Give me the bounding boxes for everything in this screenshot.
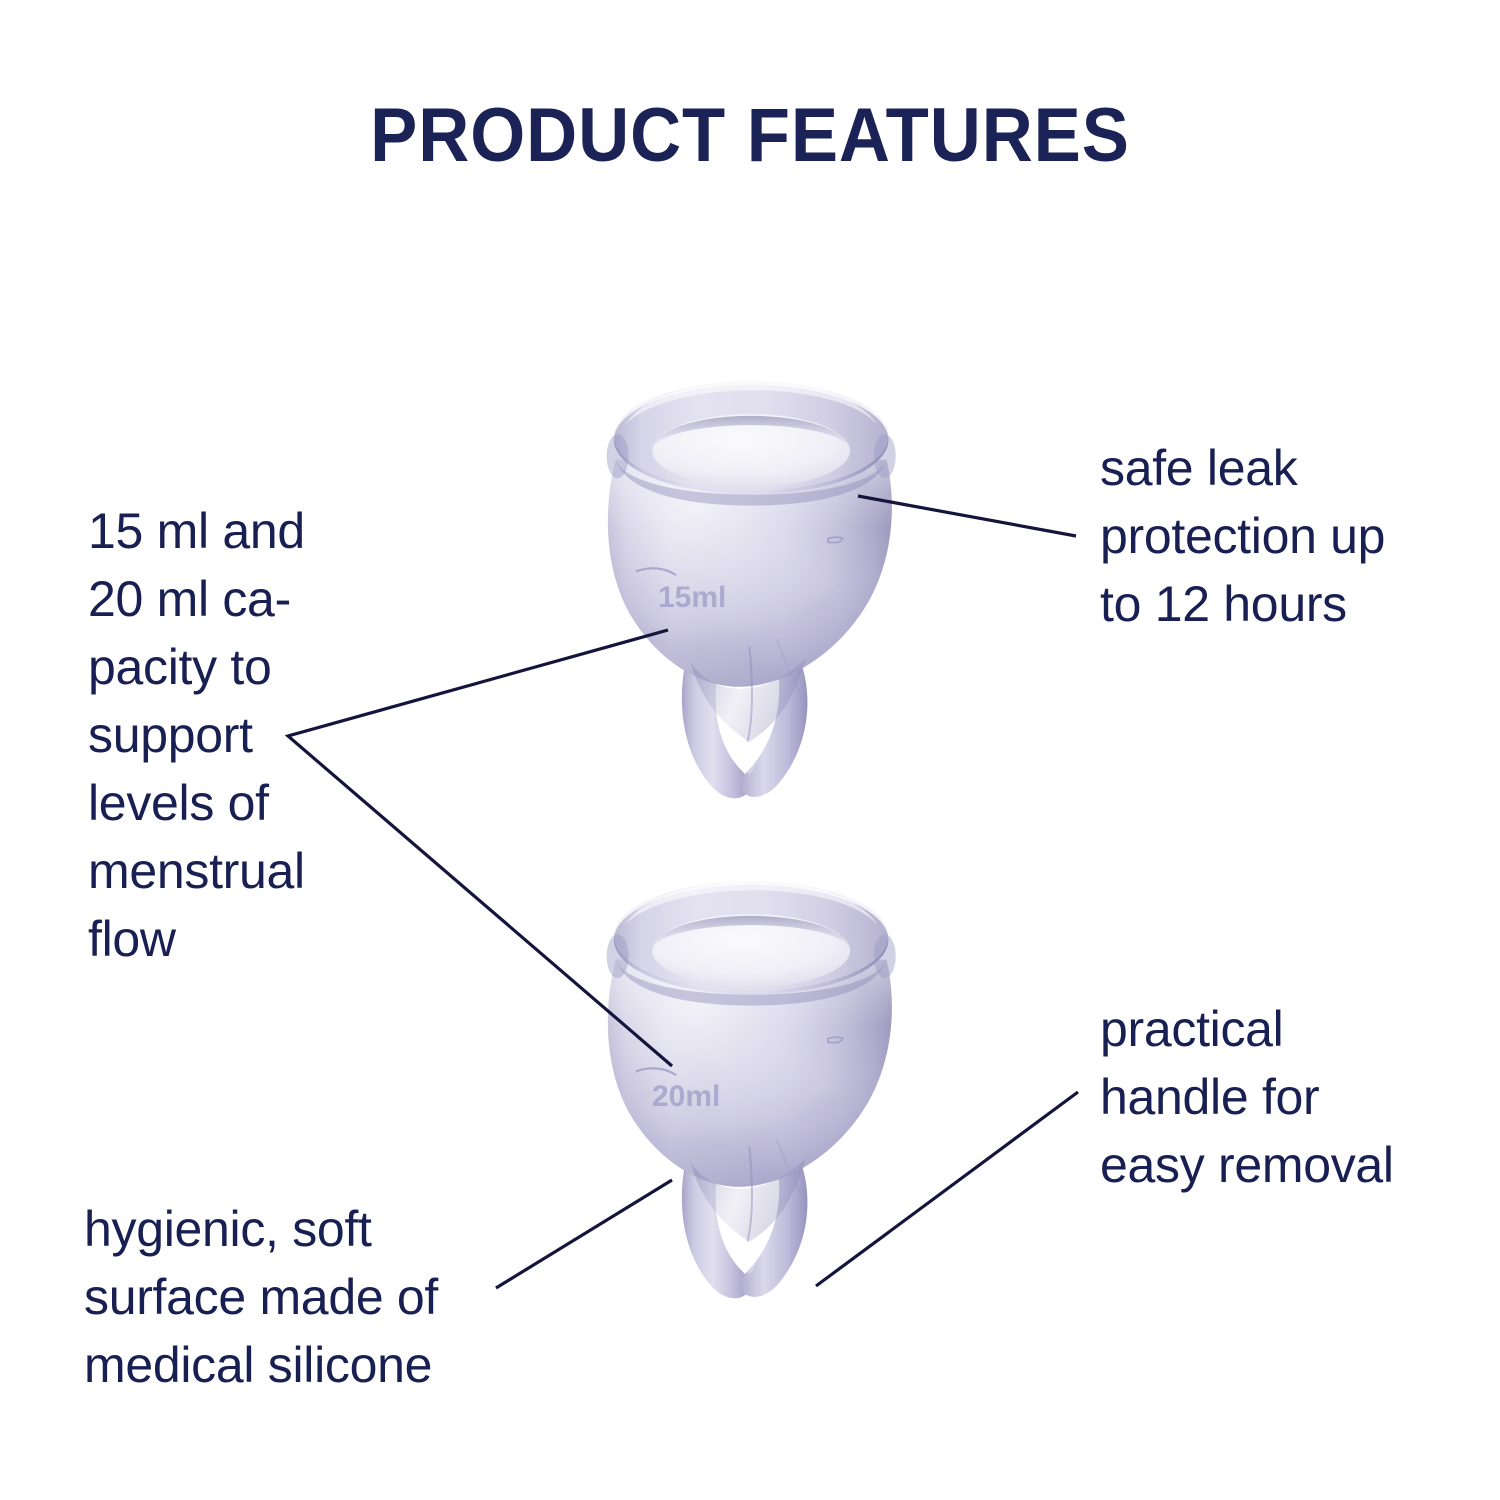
callout-capacity-text: 15 ml and 20 ml ca- pacity to support le… (88, 497, 378, 973)
callout-material-text: hygienic, soft surface made of medical s… (84, 1195, 514, 1399)
product-cup-20ml: 20ml (607, 881, 896, 1298)
callout-leak-protection-text: safe leak protection up to 12 hours (1100, 434, 1430, 638)
product-cup-15ml: 15ml (607, 381, 896, 798)
infographic-canvas: PRODUCT FEATURES (0, 0, 1500, 1500)
callout-handle-text: practical handle for easy removal (1100, 995, 1450, 1199)
leader-line-material (496, 1180, 672, 1288)
cup-15ml-capacity-emboss: 15ml (658, 581, 726, 614)
cup-20ml-capacity-emboss: 20ml (652, 1080, 720, 1113)
